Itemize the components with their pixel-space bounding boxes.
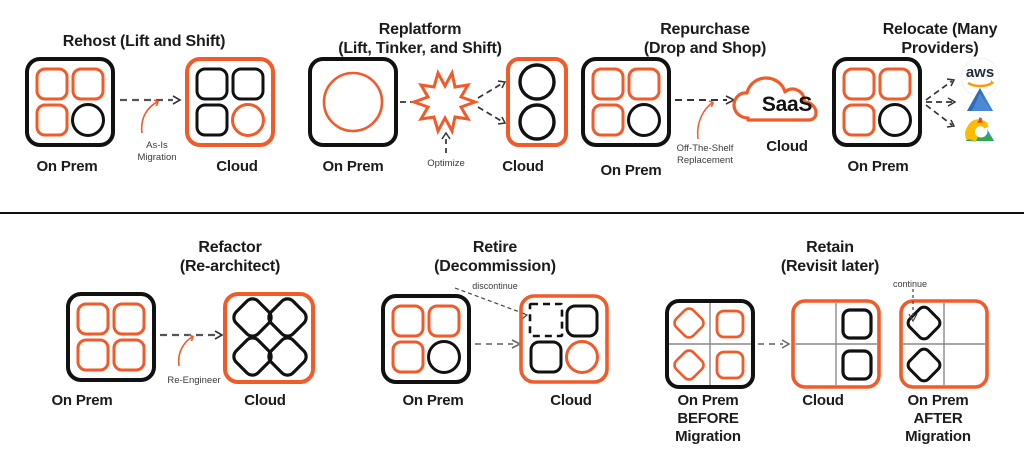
discontinue-label: discontinue [418,281,572,292]
replatform-target-caption: Cloud [480,158,566,176]
relocate-arrow-azure [926,98,955,106]
rehost-arrow-label-line1: As-Is [120,140,194,152]
grid-4-box-icon-onprem [68,294,154,380]
repurchase-title: Repurchase (Drop and Shop) [580,20,830,58]
replatform-source-caption: On Prem [300,158,406,176]
refactor-title-line1: Refactor [130,238,330,257]
relocate-graphics: aws [830,55,1024,165]
retain-graphics [655,296,995,396]
grid-4-box-dashed-slot-icon-cloud [521,296,607,382]
quad-grid-diamond-square-icon-before [667,301,753,387]
retain-after-caption: On Prem AFTER Migration [873,392,1003,446]
star-burst-icon [414,73,475,131]
repurchase-arrow [675,96,734,104]
quad-grid-square-icon-cloud [793,301,879,387]
rehost-arrow-label-line2: Migration [120,152,194,164]
rehost-source-caption: On Prem [14,158,120,176]
refactor-arrow-label: Re-Engineer [148,375,240,387]
repurchase-hook [698,103,712,139]
rehost-target-caption: Cloud [184,158,290,176]
rehost-migration-arrow [120,96,180,104]
refactor-hook [179,337,192,366]
refactor-title-line2: (Re-architect) [130,257,330,276]
relocate-title-line1: Relocate (Many [855,20,1024,39]
svg-text:aws: aws [966,64,994,81]
retain-title-line1: Retain [745,238,915,257]
relocate-arrow-gcp [926,105,954,127]
retire-title: Retire (Decommission) [400,238,590,276]
retain-title-line2: (Revisit later) [745,257,915,276]
retain-arrow [758,340,789,348]
repurchase-target-caption: Cloud [738,138,836,156]
relocate-arrow-aws [926,79,954,100]
saas-text: SaaS [735,93,839,117]
retain-before-caption: On Prem BEFORE Migration [643,392,773,446]
replatform-title: Replatform (Lift, Tinker, and Shift) [290,20,550,58]
google-cloud-logo [965,117,994,142]
replatform-upper-arrow [478,81,505,98]
rehost-arrow-label: As-Is Migration [120,140,194,164]
optimize-arrow [442,133,450,153]
section-divider [0,212,1024,214]
grid-4-box-icon-onprem [383,296,469,382]
replatform-graphics [300,55,550,160]
retire-arrow [475,340,520,348]
relocate-title: Relocate (Many Providers) [855,20,1024,58]
retire-graphics [375,292,615,397]
quad-grid-diamond-icon-after [901,301,987,387]
replatform-title-line1: Replatform [290,20,550,39]
replatform-lower-arrow [478,107,505,124]
retain-title: Retain (Revisit later) [745,238,915,276]
retire-title-line1: Retire [400,238,590,257]
grid-4-box-icon-onprem [583,59,669,145]
retain-cloud-caption: Cloud [778,392,868,410]
retire-title-line2: (Decommission) [400,257,590,276]
single-circle-box-icon-onprem [310,59,396,145]
rehost-title-text: Rehost (Lift and Shift) [63,33,226,50]
repurchase-source-caption: On Prem [578,162,684,180]
relocate-source-caption: On Prem [832,158,924,176]
retire-target-caption: Cloud [521,392,621,410]
refactor-title: Refactor (Re-architect) [130,238,330,276]
optimize-label: Optimize [408,158,484,170]
repurchase-title-line1: Repurchase [580,20,830,39]
grid-4-box-icon-onprem [27,59,113,145]
retire-source-caption: On Prem [383,392,483,410]
grid-4-box-icon-onprem [834,59,920,145]
two-circle-box-icon-cloud [508,59,566,145]
grid-4-diamond-box-icon-cloud [225,294,313,382]
refactor-source-caption: On Prem [22,392,142,410]
refactor-target-caption: Cloud [215,392,315,410]
continue-label: continue [865,279,955,290]
migration-strategies-diagram: Rehost (Lift and Shift) As-Is Migr [0,0,1024,468]
rehost-title: Rehost (Lift and Shift) [0,32,288,51]
grid-4-box-icon-cloud [187,59,273,145]
